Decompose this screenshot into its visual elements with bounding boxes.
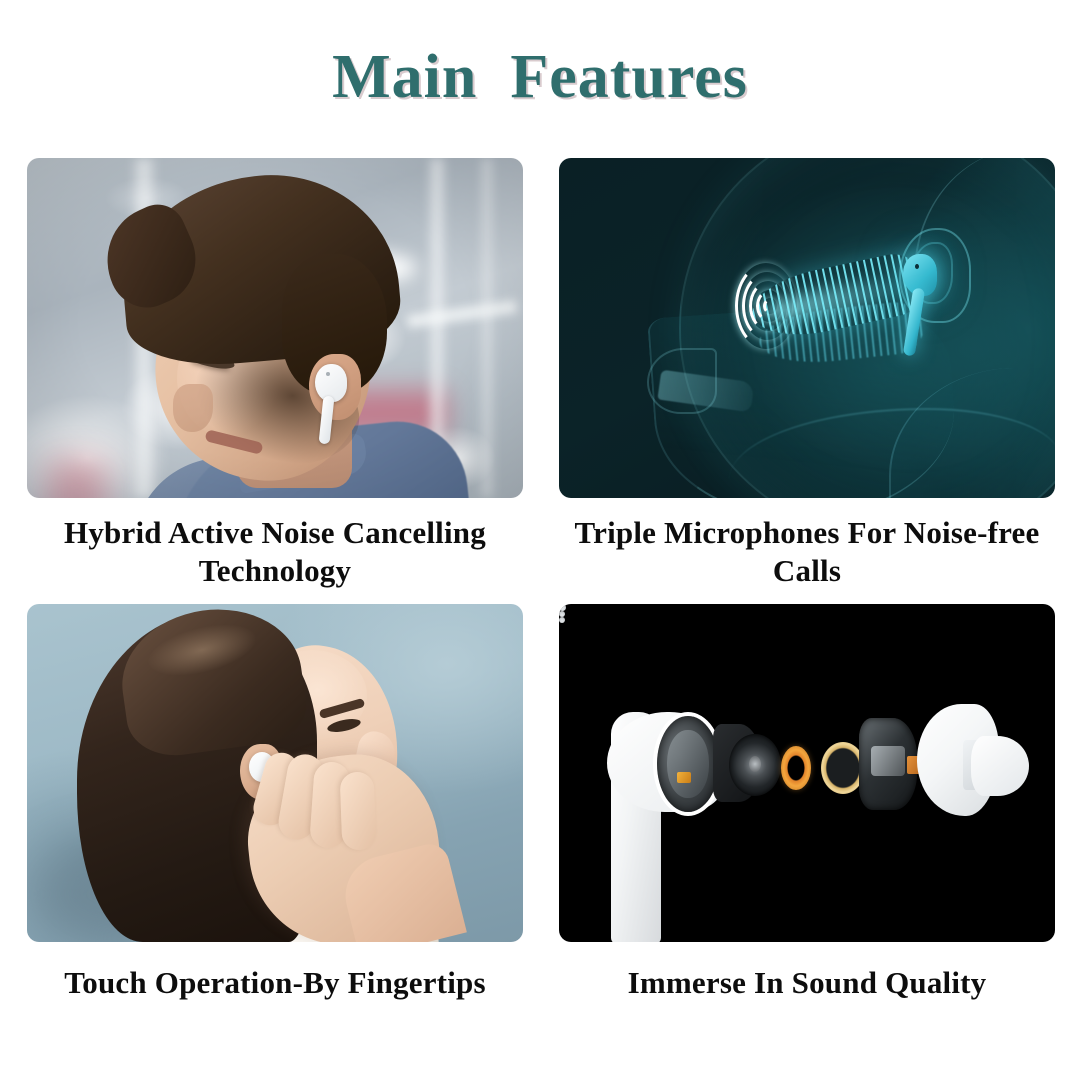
feature-card-anc: Hybrid Active Noise Cancelling Technolog…: [27, 158, 523, 590]
exploded-earbud-components-photo: [559, 604, 1055, 942]
product-feature-infographic: Main Features: [0, 0, 1080, 1080]
feature-caption-anc: Hybrid Active Noise Cancelling Technolog…: [27, 498, 523, 590]
microphone-hole: [559, 617, 565, 623]
gold-contact-pad: [677, 772, 691, 783]
feature-card-triple-mic: Triple Microphones For Noise-free Calls: [559, 158, 1055, 590]
feature-caption-sound-quality: Immerse In Sound Quality: [559, 942, 1055, 1002]
page-title-container: Main Features: [0, 42, 1080, 112]
sound-wave-icon: [737, 266, 807, 346]
driver-center-dome: [749, 756, 761, 772]
man-wearing-earbud-photo: [27, 158, 523, 498]
woman-touching-earbud-photo: [27, 604, 523, 942]
internal-circuit-board: [667, 730, 709, 798]
copper-voice-coil-ring: [781, 746, 811, 790]
sound-wave-arc: [735, 263, 797, 349]
page-title: Main Features: [332, 42, 748, 112]
circuit-chip: [871, 746, 905, 776]
feature-card-sound-quality: Immerse In Sound Quality: [559, 604, 1055, 1002]
earbud-microphone-dot: [915, 264, 919, 269]
fingertip: [340, 771, 377, 850]
photo-vignette: [27, 158, 523, 498]
feature-caption-touch: Touch Operation-By Fingertips: [27, 942, 523, 1002]
feature-card-touch: Touch Operation-By Fingertips: [27, 604, 523, 1002]
feature-caption-triple-mic: Triple Microphones For Noise-free Calls: [559, 498, 1055, 590]
feature-grid: Hybrid Active Noise Cancelling Technolog…: [27, 158, 1055, 1002]
microphone-hole: [559, 604, 566, 611]
xray-head-microphone-waves-photo: [559, 158, 1055, 498]
silicone-ear-tip: [971, 736, 1029, 796]
